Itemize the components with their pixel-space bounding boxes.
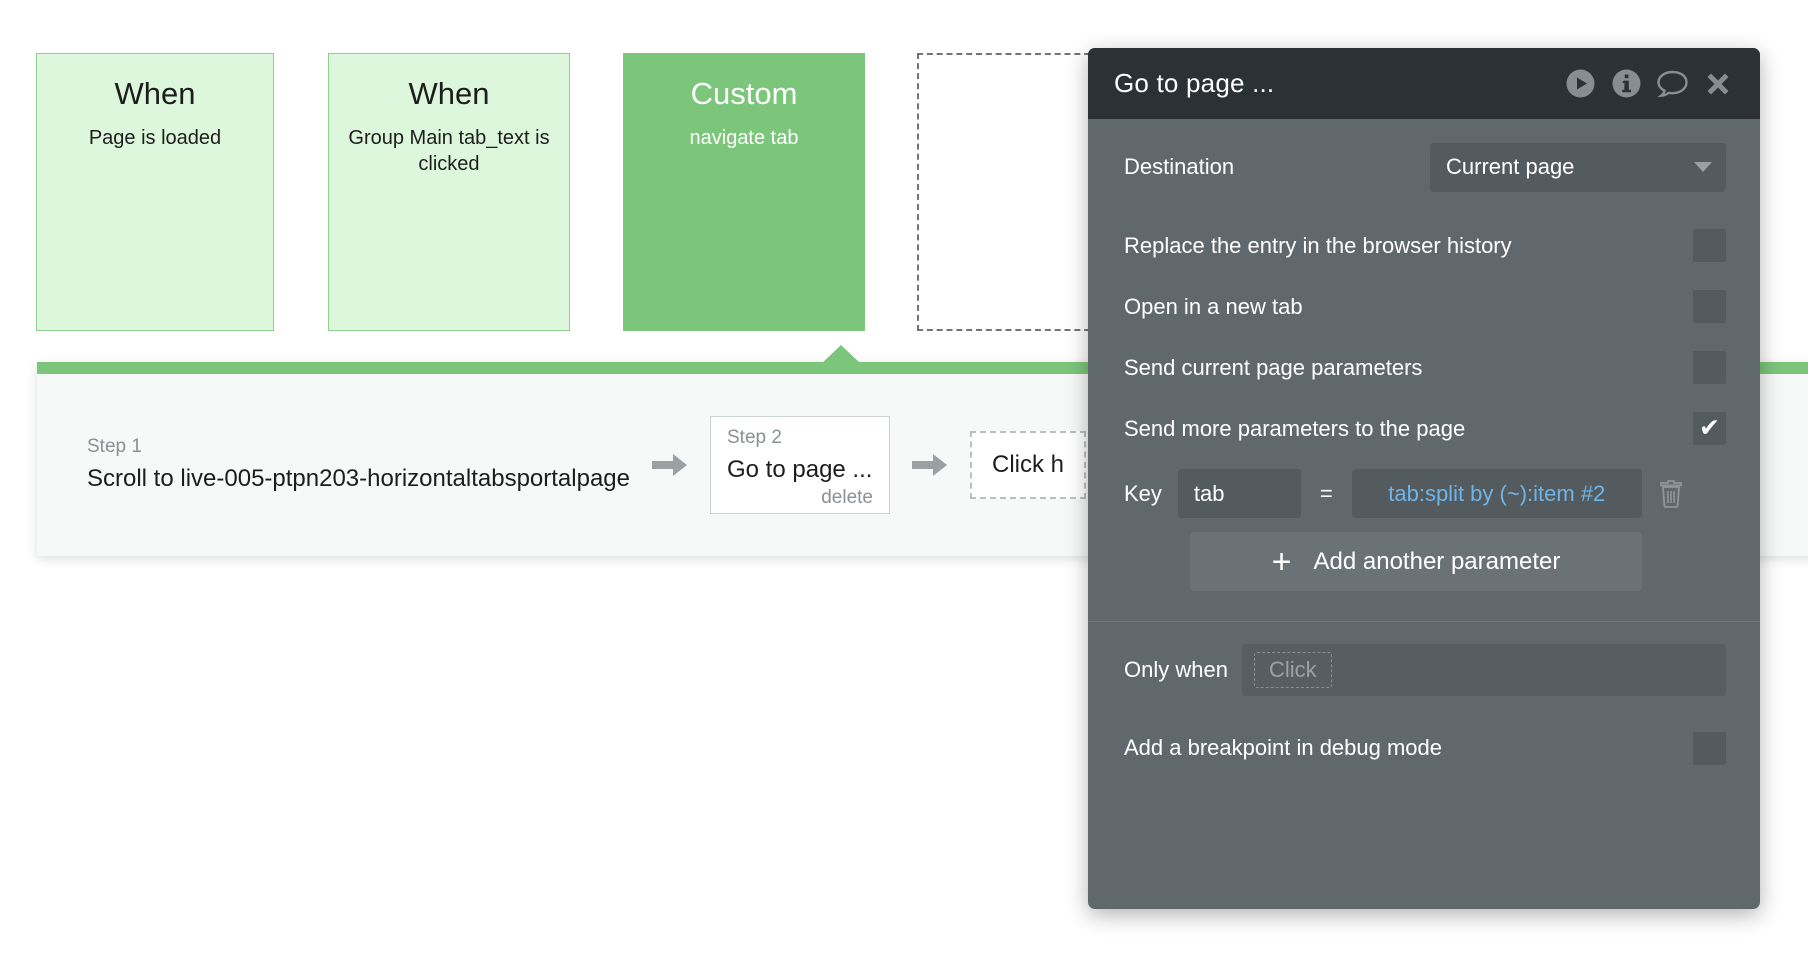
workflow-step-1[interactable]: Step 1 Scroll to live-005-ptpn203-horizo… [87, 432, 630, 498]
option-row-send-current-params[interactable]: Send current page parameters [1088, 337, 1760, 398]
event-card-custom-navigate-tab[interactable]: Custom navigate tab [623, 53, 865, 331]
breakpoint-row[interactable]: Add a breakpoint in debug mode [1088, 710, 1760, 786]
checkbox-send-more-params[interactable]: ✔ [1693, 412, 1726, 445]
step-label: Step 1 [87, 436, 630, 459]
only-when-placeholder: Click [1254, 652, 1332, 688]
card-subtitle: Group Main tab_text is clicked [345, 125, 553, 178]
card-title: When [345, 76, 553, 113]
destination-select[interactable]: Current page [1430, 143, 1726, 192]
step-title: Scroll to live-005-ptpn203-horizontaltab… [87, 465, 630, 494]
option-row-send-more-params[interactable]: Send more parameters to the page ✔ [1088, 398, 1760, 459]
checkbox-new-tab[interactable] [1693, 290, 1726, 323]
plus-icon: + [1272, 545, 1292, 579]
option-label: Replace the entry in the browser history [1124, 233, 1693, 259]
equals-sign: = [1320, 481, 1333, 507]
step-title: Go to page ... [727, 456, 873, 485]
action-properties-dialog: Go to page ... [1088, 48, 1760, 909]
add-parameter-label: Add another parameter [1314, 548, 1561, 576]
parameter-value-expression: tab:split by (~):item #2 [1388, 481, 1605, 507]
only-when-input[interactable]: Click [1242, 644, 1726, 696]
option-row-replace-history[interactable]: Replace the entry in the browser history [1088, 215, 1760, 276]
event-card-when-page-loaded[interactable]: When Page is loaded [36, 53, 274, 331]
step-arrow-icon [652, 452, 688, 478]
destination-label: Destination [1124, 154, 1430, 180]
step-title: Click h [992, 451, 1064, 478]
add-parameter-wrap: + Add another parameter [1088, 528, 1760, 613]
dialog-body: Destination Current page Replace the ent… [1088, 119, 1760, 786]
parameter-key-input[interactable]: tab [1178, 469, 1301, 518]
event-card-when-tab-clicked[interactable]: When Group Main tab_text is clicked [328, 53, 570, 331]
dialog-title: Go to page ... [1114, 68, 1554, 99]
workflow-step-3-add[interactable]: Click h [970, 431, 1086, 499]
workflow-pointer-arrow [822, 345, 860, 363]
checkbox-send-current-params[interactable] [1693, 351, 1726, 384]
step-arrow-icon [912, 452, 948, 478]
card-title: Custom [640, 76, 848, 113]
only-when-row: Only when Click [1088, 622, 1760, 710]
only-when-label: Only when [1124, 657, 1228, 683]
play-icon[interactable] [1560, 64, 1600, 104]
destination-value: Current page [1446, 154, 1694, 180]
step-delete-link[interactable]: delete [727, 487, 873, 509]
chevron-down-icon [1694, 162, 1712, 172]
parameter-row: Key tab = tab:split by (~):item #2 [1088, 459, 1760, 528]
checkbox-breakpoint[interactable] [1693, 732, 1726, 765]
add-another-parameter-button[interactable]: + Add another parameter [1190, 532, 1642, 591]
card-subtitle: Page is loaded [53, 125, 257, 152]
parameter-key-value: tab [1194, 481, 1225, 507]
breakpoint-label: Add a breakpoint in debug mode [1124, 735, 1693, 761]
step-label: Step 2 [727, 427, 873, 450]
checkbox-replace-history[interactable] [1693, 229, 1726, 262]
comment-icon[interactable] [1652, 64, 1692, 104]
option-label: Send current page parameters [1124, 355, 1693, 381]
option-label: Open in a new tab [1124, 294, 1693, 320]
dialog-header: Go to page ... [1088, 48, 1760, 119]
destination-row: Destination Current page [1088, 119, 1760, 215]
option-row-new-tab[interactable]: Open in a new tab [1088, 276, 1760, 337]
card-title: When [53, 76, 257, 113]
workflow-step-2[interactable]: Step 2 Go to page ... delete [710, 416, 890, 514]
card-subtitle: navigate tab [640, 125, 848, 152]
option-label: Send more parameters to the page [1124, 416, 1693, 442]
parameter-value-input[interactable]: tab:split by (~):item #2 [1352, 469, 1642, 518]
trash-icon[interactable] [1658, 479, 1684, 509]
info-icon[interactable] [1606, 64, 1646, 104]
screen-root: When Page is loaded When Group Main tab_… [0, 0, 1808, 954]
close-icon[interactable] [1698, 64, 1738, 104]
parameter-key-label: Key [1124, 481, 1162, 507]
